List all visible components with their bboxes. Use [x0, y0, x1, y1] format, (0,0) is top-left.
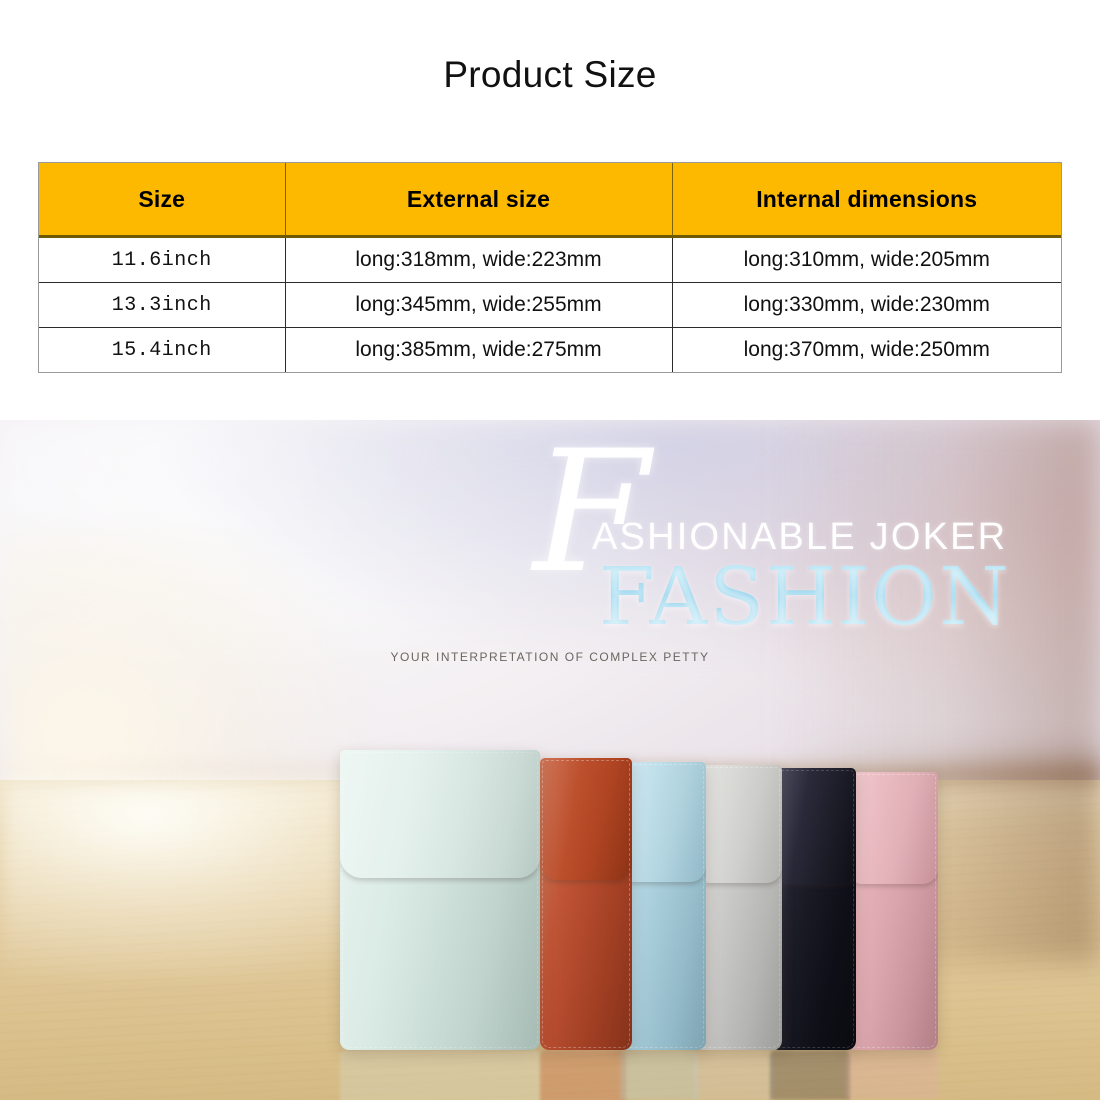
navy-black-sleeve[interactable] [770, 768, 856, 1050]
cell-size: 13.3inch [39, 283, 285, 328]
light-gray-sleeve[interactable] [694, 765, 782, 1050]
sleeve-sheen [846, 772, 938, 1050]
table-row: 13.3inch long:345mm, wide:255mm long:330… [39, 283, 1061, 328]
sleeve-sheen [340, 750, 540, 1050]
sleeve-sheen [540, 758, 632, 1050]
cell-external-size: long:345mm, wide:255mm [285, 283, 672, 328]
cell-external-size: long:318mm, wide:223mm [285, 237, 672, 283]
page-title: Product Size [0, 54, 1100, 96]
table-header-row: Size External size Internal dimensions [39, 163, 1061, 237]
orange-brown-sleeve[interactable] [540, 758, 632, 1050]
column-header-external: External size [285, 163, 672, 237]
sleeve-sheen [770, 768, 856, 1050]
product-size-page: Product Size Size External size Internal… [0, 0, 1100, 1100]
cell-internal-dimensions: long:310mm, wide:205mm [672, 237, 1061, 283]
table-row: 15.4inch long:385mm, wide:275mm long:370… [39, 328, 1061, 373]
cell-internal-dimensions: long:370mm, wide:250mm [672, 328, 1061, 373]
product-size-table: Size External size Internal dimensions 1… [38, 162, 1062, 373]
cell-internal-dimensions: long:330mm, wide:230mm [672, 283, 1061, 328]
column-header-size: Size [39, 163, 285, 237]
column-header-internal: Internal dimensions [672, 163, 1061, 237]
cell-size: 15.4inch [39, 328, 285, 373]
cell-size: 11.6inch [39, 237, 285, 283]
sleeve-sheen [694, 765, 782, 1050]
product-lifestyle-photo: F ASHIONABLE JOKER FASHION YOUR INTERPRE… [0, 420, 1100, 1100]
pink-sleeve[interactable] [846, 772, 938, 1050]
mint-green-sleeve[interactable] [340, 750, 540, 1050]
table-row: 11.6inch long:318mm, wide:223mm long:310… [39, 237, 1061, 283]
product-sleeves-group [0, 420, 1100, 1100]
cell-external-size: long:385mm, wide:275mm [285, 328, 672, 373]
